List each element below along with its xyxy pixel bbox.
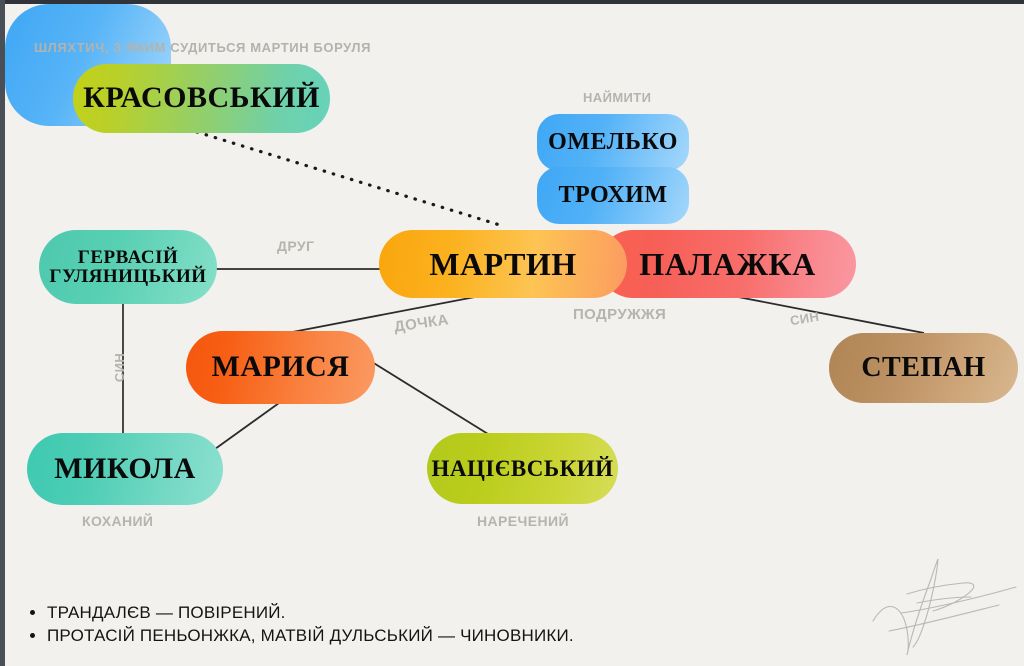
node-natsiyevskyi[interactable]: НАЦІЄВСЬКИЙ [427, 433, 618, 504]
node-hervasiy-hulianytskyi[interactable]: ГЕРВАСІЙ ГУЛЯНИЦЬКИЙ [39, 230, 217, 304]
node-palazhka[interactable]: ПАЛАЖКА [599, 230, 856, 298]
edge-label-syn-mykola: СИН [112, 353, 127, 382]
edge-label-podruzhzhia: ПОДРУЖЖЯ [573, 306, 666, 323]
node-stepan[interactable]: СТЕПАН [829, 333, 1018, 403]
node-omelko[interactable]: ОМЕЛЬКО [537, 114, 689, 171]
node-marysia[interactable]: МАРИСЯ [186, 331, 375, 404]
list-item: ПРОТАСІЙ ПЕНЬОНЖКА, МАТВІЙ ДУЛЬСЬКИЙ — Ч… [47, 625, 574, 648]
edge-label-kokhanyi: КОХАНИЙ [82, 513, 153, 529]
node-trokhym[interactable]: ТРОХИМ [537, 167, 689, 224]
edge-marysia-natsiyevskyi [372, 362, 488, 434]
krasovskyi-caption: ШЛЯХТИЧ, З ЯКИМ СУДИТЬСЯ МАРТИН БОРУЛЯ [34, 40, 371, 55]
signature-mark [871, 549, 1021, 659]
notes-list: ТРАНДАЛЄВ — ПОВІРЕНИЙ. ПРОТАСІЙ ПЕНЬОНЖК… [23, 602, 574, 648]
node-hervasiy-line2: ГУЛЯНИЦЬКИЙ [49, 267, 206, 286]
node-hervasiy-line1: ГЕРВАСІЙ [49, 248, 206, 267]
edge-label-naymyty: НАЙМИТИ [583, 90, 651, 105]
node-krasovskyi[interactable]: КРАСОВСЬКИЙ [73, 64, 330, 133]
node-martin[interactable]: МАРТИН [379, 230, 627, 298]
edge-krasovskyi-martin [197, 132, 503, 226]
diagram-canvas: ШЛЯХТИЧ, З ЯКИМ СУДИТЬСЯ МАРТИН БОРУЛЯ К… [5, 4, 1024, 666]
edge-palazhka-stepan [738, 297, 924, 333]
edge-label-narechenyi: НАРЕЧЕНИЙ [477, 513, 569, 529]
node-mykola[interactable]: МИКОЛА [27, 433, 223, 505]
list-item: ТРАНДАЛЄВ — ПОВІРЕНИЙ. [47, 602, 574, 625]
edge-label-drug: ДРУГ [277, 238, 314, 254]
